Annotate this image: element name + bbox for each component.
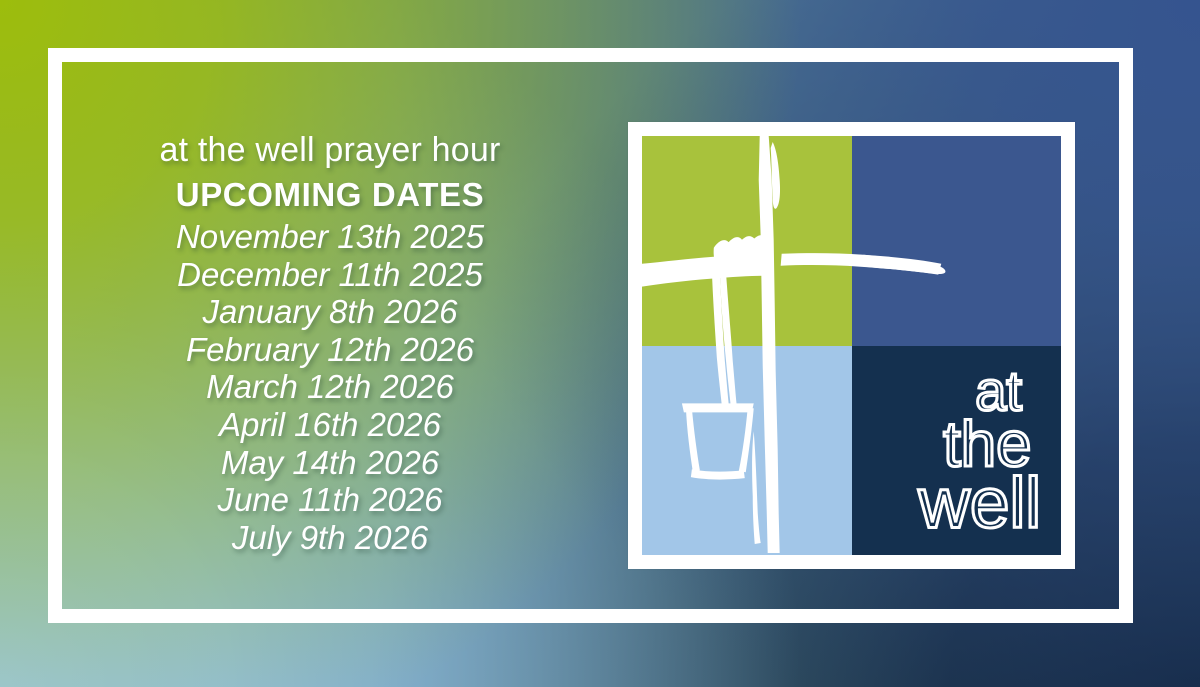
date-item: December 11th 2025 — [95, 256, 565, 294]
subhead-upcoming-dates: UPCOMING DATES — [95, 172, 565, 218]
text-block: at the well prayer hour UPCOMING DATES N… — [95, 128, 565, 556]
date-item: May 14th 2026 — [95, 444, 565, 482]
dates-list: November 13th 2025 December 11th 2025 Ja… — [95, 218, 565, 556]
headline: at the well prayer hour — [95, 128, 565, 172]
at-the-well-wordmark: at the well — [860, 354, 1053, 547]
wordmark-line-well: well — [917, 463, 1041, 543]
logo-inner: at the well — [642, 136, 1061, 555]
date-item: January 8th 2026 — [95, 293, 565, 331]
date-item: April 16th 2026 — [95, 406, 565, 444]
date-item: November 13th 2025 — [95, 218, 565, 256]
date-item: February 12th 2026 — [95, 331, 565, 369]
date-item: March 12th 2026 — [95, 368, 565, 406]
date-item: July 9th 2026 — [95, 519, 565, 557]
at-the-well-logo: at the well — [628, 122, 1075, 569]
date-item: June 11th 2026 — [95, 481, 565, 519]
slide-canvas: at the well prayer hour UPCOMING DATES N… — [0, 0, 1200, 687]
